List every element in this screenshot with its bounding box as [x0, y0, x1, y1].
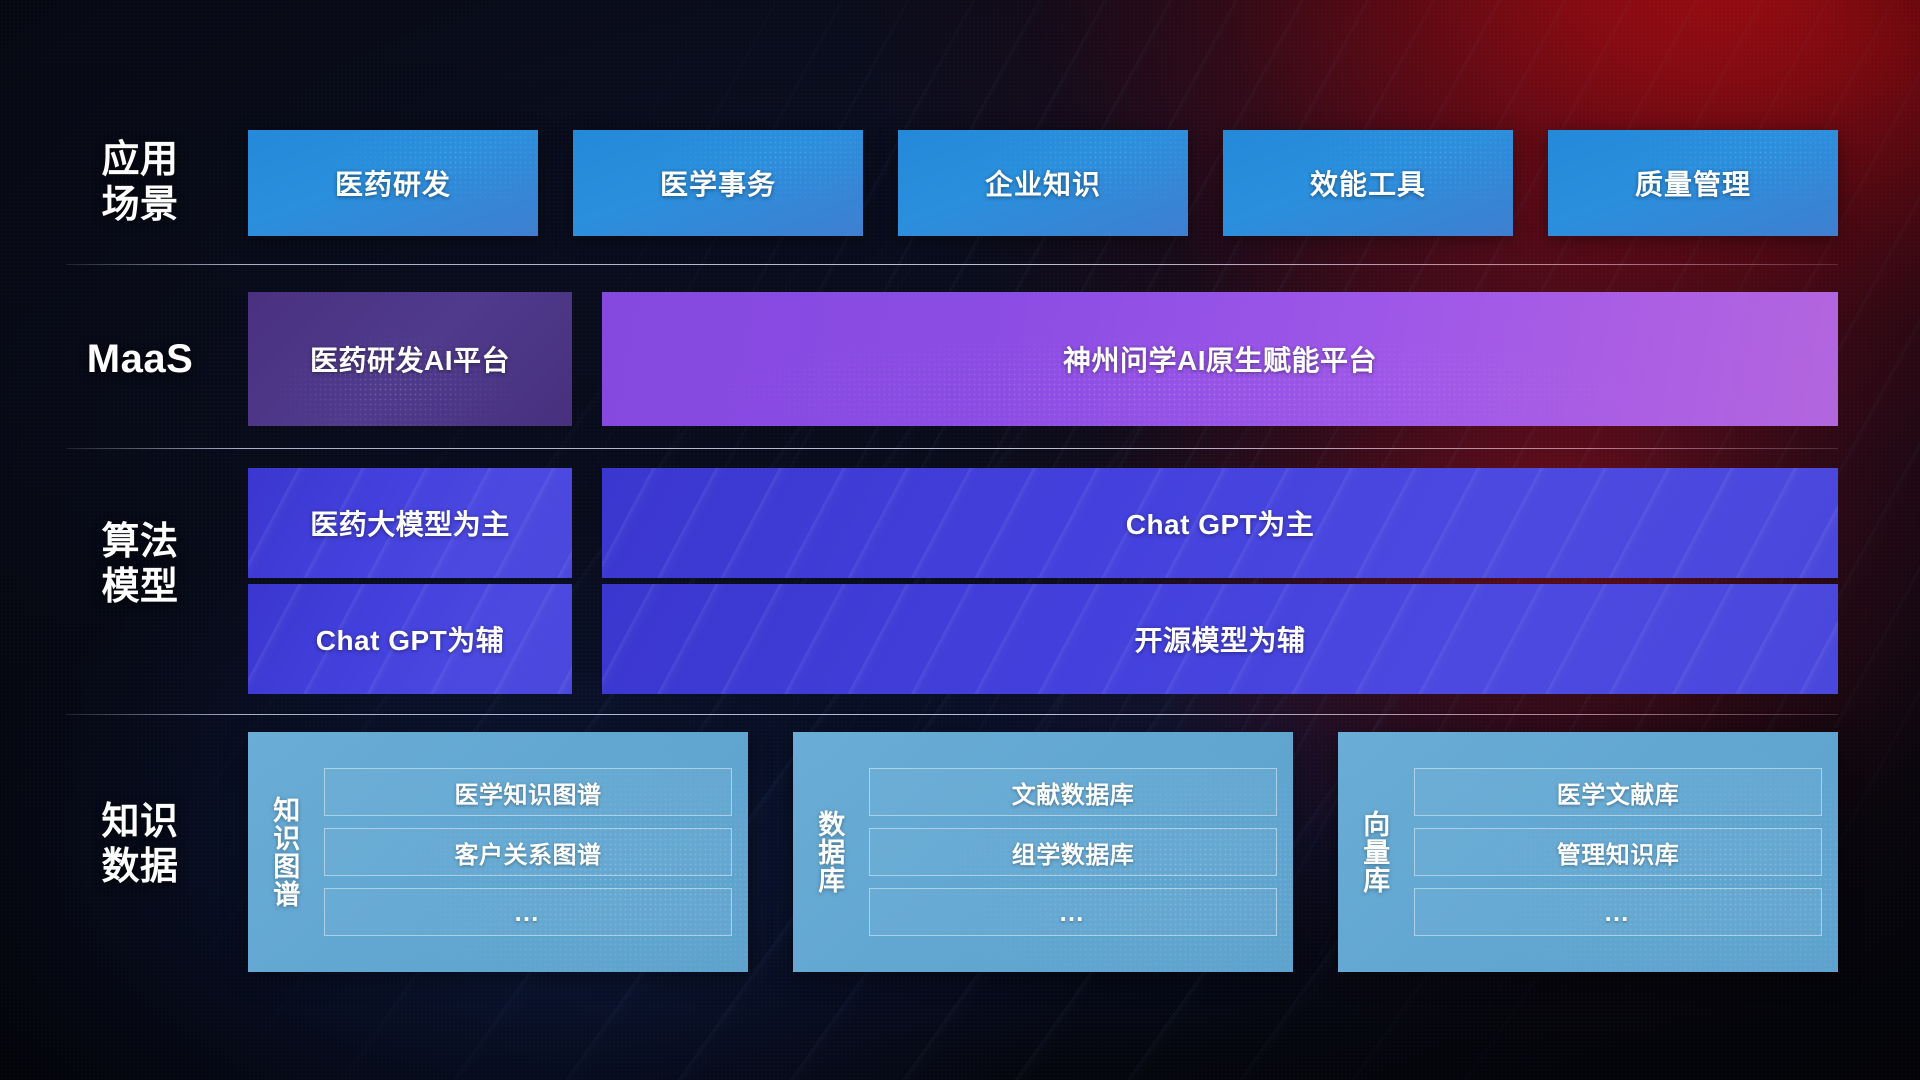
knowledge-card-item-list: 文献数据库 组学数据库 …: [865, 732, 1293, 972]
knowledge-card-item[interactable]: 组学数据库: [869, 828, 1277, 876]
knowledge-card-title: 向量库: [1338, 732, 1410, 972]
knowledge-card-knowledge-graph[interactable]: 知识图谱 医学知识图谱 客户关系图谱 …: [248, 732, 748, 972]
tile-application-scenario-3[interactable]: 企业知识: [898, 130, 1188, 236]
tile-label: 企业知识: [985, 163, 1101, 203]
slide-canvas: 应用 场景 医药研发 医学事务 企业知识 效能工具 质量管理 MaaS 医药研发…: [0, 0, 1920, 1080]
knowledge-card-database[interactable]: 数据库 文献数据库 组学数据库 …: [793, 732, 1293, 972]
knowledge-card-item[interactable]: 管理知识库: [1414, 828, 1822, 876]
tile-algo-row1-left[interactable]: 医药大模型为主: [248, 468, 572, 578]
knowledge-card-item-list: 医学知识图谱 客户关系图谱 …: [320, 732, 748, 972]
knowledge-card-vector-store[interactable]: 向量库 医学文献库 管理知识库 …: [1338, 732, 1838, 972]
knowledge-card-item-list: 医学文献库 管理知识库 …: [1410, 732, 1838, 972]
knowledge-card-item[interactable]: 医学文献库: [1414, 768, 1822, 816]
tile-algo-row2-right[interactable]: 开源模型为辅: [602, 584, 1838, 694]
tile-label: 医学事务: [660, 163, 776, 203]
tile-application-scenario-1[interactable]: 医药研发: [248, 130, 538, 236]
tier-label-knowledge-data: 知识 数据: [60, 790, 220, 900]
tile-maas-pharma-platform[interactable]: 医药研发AI平台: [248, 292, 572, 426]
tile-application-scenario-2[interactable]: 医学事务: [573, 130, 863, 236]
knowledge-card-item[interactable]: 医学知识图谱: [324, 768, 732, 816]
knowledge-card-item[interactable]: 文献数据库: [869, 768, 1277, 816]
tier-label-application-scenarios: 应用 场景: [60, 128, 220, 238]
tier-label-algorithm-model: 算法 模型: [60, 510, 220, 620]
knowledge-card-title: 知识图谱: [248, 732, 320, 972]
tier-divider-3: [66, 714, 1838, 715]
tile-label: Chat GPT为主: [1126, 503, 1315, 543]
knowledge-card-item-more[interactable]: …: [869, 888, 1277, 936]
tile-application-scenario-4[interactable]: 效能工具: [1223, 130, 1513, 236]
tile-algo-row1-right[interactable]: Chat GPT为主: [602, 468, 1838, 578]
tile-label: 医药研发: [335, 163, 451, 203]
tile-label: 效能工具: [1310, 163, 1426, 203]
knowledge-card-item-more[interactable]: …: [1414, 888, 1822, 936]
tile-label: 开源模型为辅: [1134, 619, 1305, 659]
knowledge-card-item-more[interactable]: …: [324, 888, 732, 936]
tier-divider-1: [66, 264, 1838, 265]
tile-label: 医药研发AI平台: [310, 339, 510, 379]
tile-algo-row2-left[interactable]: Chat GPT为辅: [248, 584, 572, 694]
tile-application-scenario-5[interactable]: 质量管理: [1548, 130, 1838, 236]
knowledge-card-title: 数据库: [793, 732, 865, 972]
tile-label: 医药大模型为主: [310, 503, 510, 543]
tile-label: 质量管理: [1635, 163, 1751, 203]
tile-label: Chat GPT为辅: [316, 619, 505, 659]
tile-label: 神州问学AI原生赋能平台: [1063, 339, 1377, 379]
knowledge-card-item[interactable]: 客户关系图谱: [324, 828, 732, 876]
tile-maas-shenzhou-platform[interactable]: 神州问学AI原生赋能平台: [602, 292, 1838, 426]
tier-divider-2: [66, 448, 1838, 449]
tier-label-maas: MaaS: [60, 330, 220, 390]
